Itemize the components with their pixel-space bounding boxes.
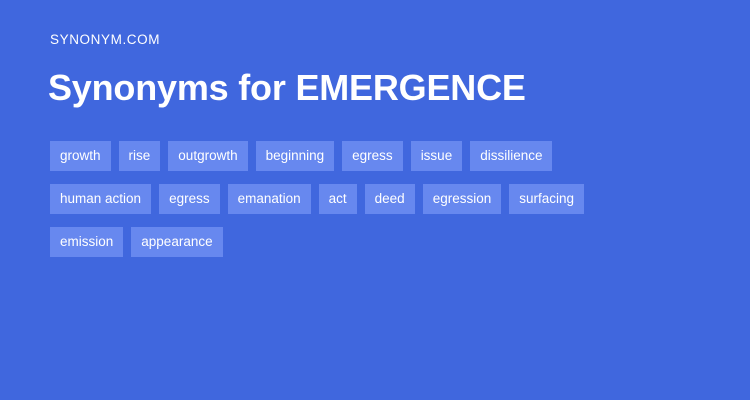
synonym-tag[interactable]: human action [50, 184, 151, 214]
synonym-tag[interactable]: egression [423, 184, 502, 214]
synonym-tag[interactable]: beginning [256, 141, 335, 171]
synonym-tag[interactable]: rise [119, 141, 161, 171]
synonym-row: emission appearance [50, 227, 710, 257]
synonym-tag[interactable]: egress [342, 141, 403, 171]
synonym-tag[interactable]: egress [159, 184, 220, 214]
synonym-tag[interactable]: act [319, 184, 357, 214]
synonym-tag[interactable]: issue [411, 141, 463, 171]
synonym-tag-list: growth rise outgrowth beginning egress i… [50, 141, 710, 257]
synonym-tag[interactable]: dissilience [470, 141, 552, 171]
page-title: Synonyms for EMERGENCE [48, 68, 526, 108]
synonym-tag[interactable]: emanation [228, 184, 311, 214]
synonym-tag[interactable]: deed [365, 184, 415, 214]
site-brand: SYNONYM.COM [50, 33, 160, 47]
synonym-row: human action egress emanation act deed e… [50, 184, 710, 214]
synonym-tag[interactable]: emission [50, 227, 123, 257]
synonym-tag[interactable]: growth [50, 141, 111, 171]
synonym-tag[interactable]: appearance [131, 227, 222, 257]
synonym-page: SYNONYM.COM Synonyms for EMERGENCE growt… [0, 0, 750, 400]
synonym-tag[interactable]: surfacing [509, 184, 584, 214]
synonym-tag[interactable]: outgrowth [168, 141, 247, 171]
synonym-row: growth rise outgrowth beginning egress i… [50, 141, 710, 171]
